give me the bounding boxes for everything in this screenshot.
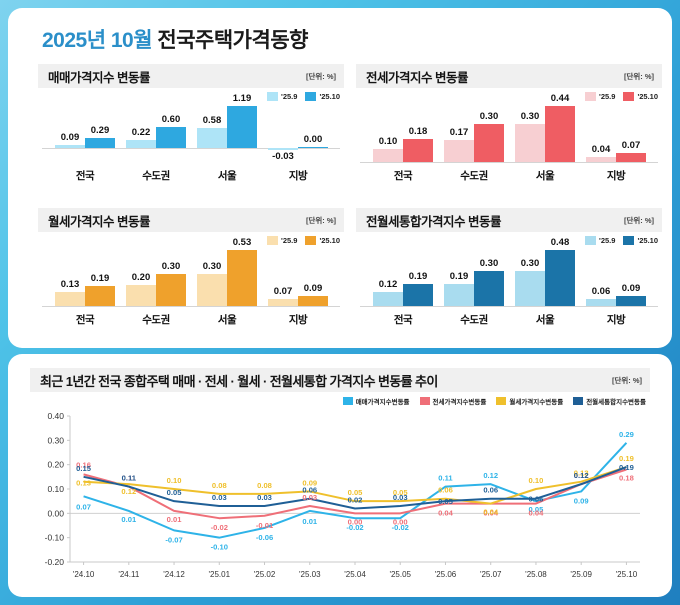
- bar-value-label: 0.53: [219, 237, 265, 248]
- bar-jeonse-전국-'25.10: 0.18: [403, 139, 433, 162]
- panel-jeonse: 전세가격지수 변동률[단위: %]'25.9'25.100.100.180.17…: [356, 64, 662, 190]
- bar-combo-지방-'25.9: 0.06: [586, 299, 616, 306]
- bar-sale-지방-'25.10: 0.00: [298, 147, 328, 149]
- bar-group-수도권: 0.190.30: [441, 234, 507, 312]
- bar-value-label: 0.30: [148, 261, 194, 272]
- y-axis-tick: 0.40: [47, 411, 64, 421]
- x-axis-tick: '25.05: [389, 570, 411, 579]
- y-axis-tick: 0.30: [47, 435, 64, 445]
- category-label-수도권: 수도권: [123, 312, 189, 327]
- bar-combo-수도권-'25.9: 0.19: [444, 284, 474, 306]
- trend-legend-item-3[interactable]: 전월세통합지수변동률: [573, 396, 646, 406]
- panel-wolse: 월세가격지수 변동률[단위: %]'25.9'25.100.130.190.20…: [38, 208, 344, 334]
- panel-sale-header: 매매가격지수 변동률[단위: %]: [38, 64, 344, 88]
- category-label-전국: 전국: [370, 168, 436, 183]
- data-point-label: 0.06: [438, 486, 453, 495]
- trend-legend-item-0[interactable]: 매매가격지수변동률: [343, 396, 410, 406]
- panel-combo-bars: 0.120.190.190.300.300.480.060.09: [356, 234, 662, 312]
- data-point-label: 0.10: [167, 476, 182, 485]
- bar-sale-지방-'25.9: -0.03: [268, 148, 298, 150]
- panel-sale-title: 매매가격지수 변동률: [48, 67, 150, 86]
- bar-wolse-전국-'25.10: 0.19: [85, 286, 115, 306]
- bar-combo-서울-'25.9: 0.30: [515, 271, 545, 306]
- legend-label: 매매가격지수변동률: [356, 396, 410, 406]
- bar-combo-전국-'25.9: 0.12: [373, 292, 403, 306]
- trend-card: 최근 1년간 전국 종합주택 매매 · 전세 · 월세 · 전월세통합 가격지수…: [8, 354, 672, 597]
- bar-group-서울: 0.300.53: [194, 234, 260, 312]
- bar-sale-수도권-'25.10: 0.60: [156, 127, 186, 148]
- data-point-label: 0.00: [348, 517, 363, 526]
- panel-jeonse-header: 전세가격지수 변동률[단위: %]: [356, 64, 662, 88]
- data-point-label: 0.08: [257, 481, 272, 490]
- panel-wolse-bars: 0.130.190.200.300.300.530.070.09: [38, 234, 344, 312]
- bar-value-label: 0.30: [466, 258, 512, 269]
- panel-sale-categories: 전국수도권서울지방: [38, 168, 344, 188]
- bar-group-지방: 0.040.07: [583, 90, 649, 168]
- x-axis-tick: '24.12: [163, 570, 185, 579]
- bar-value-label: 0.19: [77, 273, 123, 284]
- panel-jeonse-unit: [단위: %]: [624, 71, 654, 82]
- data-point-label: 0.12: [483, 471, 498, 480]
- bar-group-전국: 0.120.19: [370, 234, 436, 312]
- data-point-label: 0.13: [76, 479, 91, 488]
- bar-group-지방: -0.030.00: [265, 90, 331, 168]
- data-point-label: 0.04: [529, 509, 545, 518]
- data-point-label: 0.04: [483, 508, 499, 517]
- bar-value-label: 0.48: [537, 237, 583, 248]
- data-point-label: -0.06: [256, 533, 273, 542]
- bar-value-label: 0.00: [290, 134, 336, 145]
- data-point-label: -0.02: [211, 523, 228, 532]
- bar-value-label: 0.09: [608, 283, 654, 294]
- trend-chart-legend: 매매가격지수변동률전세가격지수변동률월세가격지수변동률전월세통합지수변동률: [343, 396, 646, 406]
- category-label-전국: 전국: [52, 312, 118, 327]
- bar-group-수도권: 0.170.30: [441, 90, 507, 168]
- bar-combo-지방-'25.10: 0.09: [616, 296, 646, 307]
- trend-chart-header: 최근 1년간 전국 종합주택 매매 · 전세 · 월세 · 전월세통합 가격지수…: [30, 368, 650, 392]
- data-point-label: 0.15: [76, 464, 92, 473]
- data-point-label: -0.01: [256, 521, 274, 530]
- data-point-label: 0.01: [121, 515, 137, 524]
- y-axis-tick: 0.10: [47, 484, 64, 494]
- data-point-label: 0.06: [529, 495, 544, 504]
- y-axis-tick: -0.10: [45, 533, 65, 543]
- x-axis-tick: '25.06: [435, 570, 457, 579]
- data-point-label: 0.05: [438, 497, 454, 506]
- bar-jeonse-서울-'25.9: 0.30: [515, 124, 545, 162]
- category-label-수도권: 수도권: [441, 312, 507, 327]
- data-point-label: 0.29: [619, 430, 634, 439]
- panel-wolse-unit: [단위: %]: [306, 215, 336, 226]
- x-axis-tick: '25.09: [570, 570, 592, 579]
- panel-jeonse-bars: 0.100.180.170.300.300.440.040.07: [356, 90, 662, 168]
- legend-swatch-icon: [573, 397, 583, 405]
- trend-legend-item-2[interactable]: 월세가격지수변동률: [496, 396, 563, 406]
- panel-wolse-header: 월세가격지수 변동률[단위: %]: [38, 208, 344, 232]
- bar-value-label: 0.44: [537, 93, 583, 104]
- bar-group-전국: 0.130.19: [52, 234, 118, 312]
- category-label-전국: 전국: [370, 312, 436, 327]
- legend-swatch-icon: [420, 397, 430, 405]
- legend-label: 전월세통합지수변동률: [586, 396, 646, 406]
- page-title: 2025년 10월 전국주택가격동향: [42, 24, 308, 54]
- panel-combo-unit: [단위: %]: [624, 215, 654, 226]
- category-label-서울: 서울: [512, 168, 578, 183]
- panel-jeonse-title: 전세가격지수 변동률: [366, 67, 468, 86]
- panel-wolse-categories: 전국수도권서울지방: [38, 312, 344, 332]
- bar-group-지방: 0.060.09: [583, 234, 649, 312]
- category-label-서울: 서울: [512, 312, 578, 327]
- panel-sale-unit: [단위: %]: [306, 71, 336, 82]
- legend-swatch-icon: [343, 397, 353, 405]
- category-label-전국: 전국: [52, 168, 118, 183]
- bar-value-label: -0.03: [260, 151, 306, 162]
- data-point-label: 0.03: [212, 493, 227, 502]
- category-label-수도권: 수도권: [441, 168, 507, 183]
- data-point-label: 0.12: [574, 471, 589, 480]
- bar-group-수도권: 0.200.30: [123, 234, 189, 312]
- bar-sale-서울-'25.10: 1.19: [227, 106, 257, 148]
- panel-combo: 전월세통합가격지수 변동률[단위: %]'25.9'25.100.120.190…: [356, 208, 662, 334]
- bar-jeonse-수도권-'25.9: 0.17: [444, 140, 474, 162]
- bar-wolse-지방-'25.10: 0.09: [298, 296, 328, 306]
- bar-value-label: 0.60: [148, 114, 194, 125]
- bar-value-label: 1.19: [219, 93, 265, 104]
- y-axis-tick: -0.20: [45, 557, 65, 567]
- bar-value-label: 0.09: [290, 283, 336, 294]
- data-point-label: 0.08: [212, 481, 227, 490]
- bar-wolse-서울-'25.9: 0.30: [197, 274, 227, 306]
- bar-sale-전국-'25.10: 0.29: [85, 138, 115, 148]
- bar-value-label: 0.07: [608, 140, 654, 151]
- bar-wolse-수도권-'25.10: 0.30: [156, 274, 186, 306]
- x-axis-tick: '25.01: [209, 570, 231, 579]
- bar-value-label: 0.30: [466, 111, 512, 122]
- data-point-label: 0.11: [122, 474, 137, 483]
- category-label-서울: 서울: [194, 312, 260, 327]
- bar-group-서울: 0.581.19: [194, 90, 260, 168]
- x-axis-tick: '24.10: [73, 570, 95, 579]
- x-axis-tick: '25.10: [616, 570, 638, 579]
- panel-combo-header: 전월세통합가격지수 변동률[단위: %]: [356, 208, 662, 232]
- bar-jeonse-수도권-'25.10: 0.30: [474, 124, 504, 162]
- bar-jeonse-지방-'25.9: 0.04: [586, 157, 616, 162]
- bar-wolse-지방-'25.9: 0.07: [268, 299, 298, 306]
- y-axis-tick: 0.00: [47, 508, 64, 518]
- trend-chart-plot: 0.400.300.200.100.00-0.10-0.20'24.10'24.…: [30, 408, 650, 588]
- bar-jeonse-지방-'25.10: 0.07: [616, 153, 646, 162]
- bar-value-label: 0.19: [395, 271, 441, 282]
- bar-group-지방: 0.070.09: [265, 234, 331, 312]
- data-point-label: 0.02: [348, 495, 363, 504]
- bar-combo-서울-'25.10: 0.48: [545, 250, 575, 306]
- bar-group-전국: 0.100.18: [370, 90, 436, 168]
- bar-sale-서울-'25.9: 0.58: [197, 128, 227, 148]
- category-label-지방: 지방: [265, 312, 331, 327]
- panel-sale-bars: 0.090.290.220.600.581.19-0.030.00: [38, 90, 344, 168]
- category-label-지방: 지방: [583, 312, 649, 327]
- data-point-label: 0.12: [121, 487, 136, 496]
- data-point-label: 0.11: [438, 474, 453, 483]
- panel-combo-title: 전월세통합가격지수 변동률: [366, 211, 501, 230]
- data-point-label: 0.04: [438, 509, 454, 518]
- trend-chart-title: 최근 1년간 전국 종합주택 매매 · 전세 · 월세 · 전월세통합 가격지수…: [40, 371, 438, 390]
- data-point-label: 0.18: [619, 474, 634, 483]
- category-label-수도권: 수도권: [123, 168, 189, 183]
- bar-sale-수도권-'25.9: 0.22: [126, 140, 156, 148]
- bar-sale-전국-'25.9: 0.09: [55, 145, 85, 148]
- x-axis-tick: '25.07: [480, 570, 502, 579]
- legend-label: 월세가격지수변동률: [509, 396, 563, 406]
- data-point-label: 0.01: [302, 517, 318, 526]
- data-point-label: 0.06: [483, 486, 498, 495]
- panel-jeonse-categories: 전국수도권서울지방: [356, 168, 662, 188]
- x-axis-tick: '25.04: [344, 570, 366, 579]
- panel-combo-categories: 전국수도권서울지방: [356, 312, 662, 332]
- bar-value-label: 0.18: [395, 126, 441, 137]
- category-label-지방: 지방: [583, 168, 649, 183]
- trend-chart-unit: [단위: %]: [612, 375, 642, 386]
- dashboard-root: 2025년 10월 전국주택가격동향 매매가격지수 변동률[단위: %]'25.…: [0, 0, 680, 605]
- data-point-label: 0.09: [574, 496, 589, 505]
- legend-label: 전세가격지수변동률: [433, 396, 487, 406]
- panel-sale: 매매가격지수 변동률[단위: %]'25.9'25.100.090.290.22…: [38, 64, 344, 190]
- bar-wolse-서울-'25.10: 0.53: [227, 250, 257, 306]
- data-point-label: 0.19: [619, 454, 634, 463]
- data-point-label: 0.01: [167, 515, 183, 524]
- page-title-main: 전국주택가격동향: [157, 29, 308, 52]
- data-point-label: -0.07: [165, 535, 182, 544]
- legend-swatch-icon: [496, 397, 506, 405]
- bar-jeonse-전국-'25.9: 0.10: [373, 149, 403, 162]
- data-point-label: 0.03: [257, 493, 272, 502]
- bar-combo-수도권-'25.10: 0.30: [474, 271, 504, 306]
- category-label-서울: 서울: [194, 168, 260, 183]
- bar-combo-전국-'25.10: 0.19: [403, 284, 433, 306]
- data-point-label: 0.06: [302, 486, 317, 495]
- data-point-label: 0.05: [167, 488, 183, 497]
- bar-group-수도권: 0.220.60: [123, 90, 189, 168]
- category-label-지방: 지방: [265, 168, 331, 183]
- data-point-label: 0.03: [393, 493, 408, 502]
- bar-wolse-수도권-'25.9: 0.20: [126, 285, 156, 306]
- bar-wolse-전국-'25.9: 0.13: [55, 292, 85, 306]
- data-point-label: 0.10: [529, 476, 544, 485]
- x-axis-tick: '25.02: [254, 570, 276, 579]
- trend-legend-item-1[interactable]: 전세가격지수변동률: [420, 396, 487, 406]
- panel-wolse-title: 월세가격지수 변동률: [48, 211, 150, 230]
- y-axis-tick: 0.20: [47, 460, 64, 470]
- bar-group-전국: 0.090.29: [52, 90, 118, 168]
- data-point-label: 0.19: [619, 463, 634, 472]
- data-point-label: 0.00: [393, 517, 408, 526]
- page-title-period: 2025년 10월: [42, 29, 152, 52]
- bar-group-서울: 0.300.44: [512, 90, 578, 168]
- data-point-label: -0.10: [211, 543, 228, 552]
- bar-group-서울: 0.300.48: [512, 234, 578, 312]
- x-axis-tick: '25.08: [525, 570, 547, 579]
- x-axis-tick: '24.11: [118, 570, 140, 579]
- bar-value-label: 0.29: [77, 125, 123, 136]
- summary-card: 2025년 10월 전국주택가격동향 매매가격지수 변동률[단위: %]'25.…: [8, 8, 672, 348]
- bar-jeonse-서울-'25.10: 0.44: [545, 106, 575, 162]
- x-axis-tick: '25.03: [299, 570, 321, 579]
- data-point-label: 0.07: [76, 502, 91, 511]
